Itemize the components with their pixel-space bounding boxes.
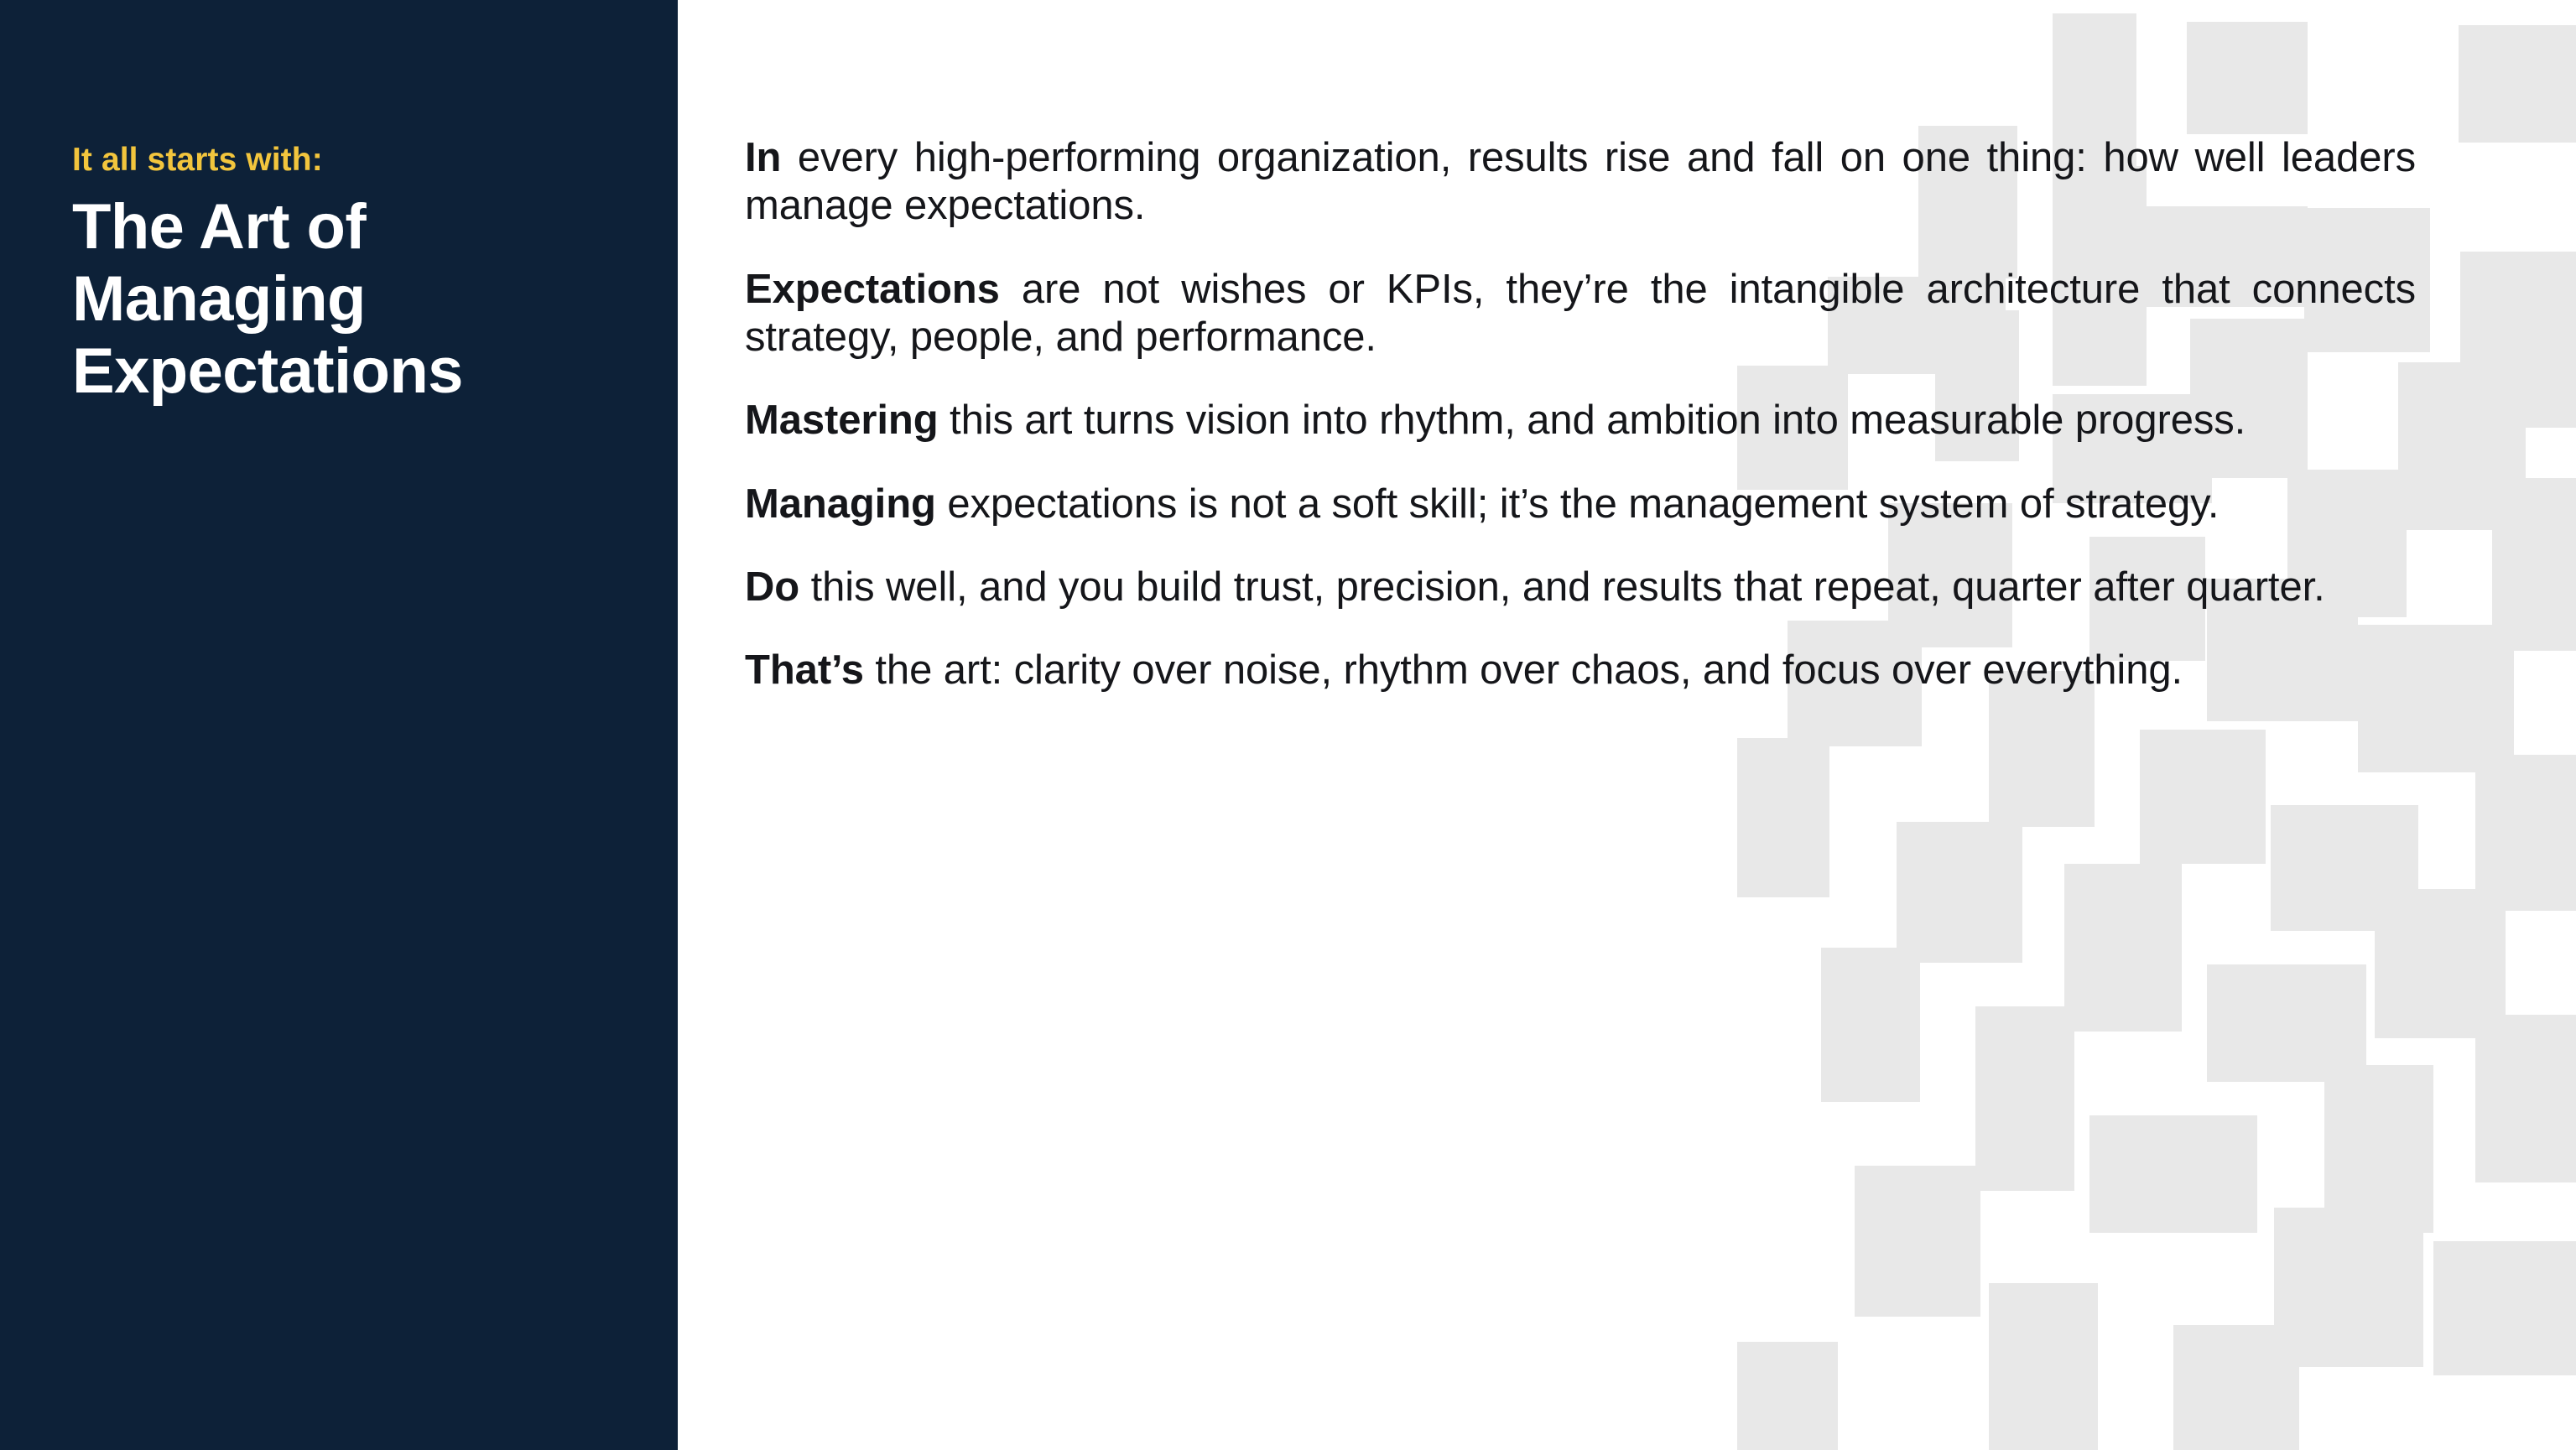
- page-title-line-2: Managing: [72, 263, 644, 335]
- pattern-block: [1737, 1342, 1838, 1450]
- paragraph: In every high-performing organization, r…: [745, 134, 2416, 231]
- pattern-block: [2207, 964, 2366, 1082]
- pattern-block: [2433, 1241, 2576, 1375]
- pattern-block: [1975, 1006, 2074, 1191]
- body-copy: In every high-performing organization, r…: [745, 134, 2416, 695]
- paragraph-lead: In: [745, 135, 781, 180]
- pattern-block: [1737, 738, 1829, 897]
- pattern-block: [2187, 22, 2308, 134]
- page-title: The Art of Managing Expectations: [72, 191, 644, 408]
- pattern-block: [1989, 1283, 2098, 1450]
- paragraph-lead: Expectations: [745, 267, 1000, 312]
- pattern-block: [2398, 362, 2526, 530]
- pattern-block: [2475, 1015, 2576, 1182]
- pattern-block: [2492, 478, 2576, 651]
- pattern-block: [2459, 25, 2576, 143]
- pattern-block: [2089, 1115, 2257, 1233]
- pattern-block: [2274, 1208, 2423, 1367]
- pattern-block: [1897, 822, 2022, 963]
- pattern-block: [2324, 1065, 2433, 1233]
- paragraph-lead: Managing: [745, 481, 936, 527]
- paragraph-text: this well, and you build trust, precisio…: [799, 564, 2325, 610]
- pattern-block: [2140, 730, 2266, 864]
- pattern-block: [2271, 805, 2418, 931]
- paragraph-lead: Mastering: [745, 398, 939, 443]
- pattern-block: [2375, 889, 2506, 1038]
- sidebar-content: It all starts with: The Art of Managing …: [72, 141, 644, 408]
- paragraph-text: expectations is not a soft skill; it’s t…: [936, 481, 2220, 527]
- paragraph-text: the art: clarity over noise, rhythm over…: [864, 647, 2183, 693]
- slide-canvas: It all starts with: The Art of Managing …: [0, 0, 2576, 1450]
- pattern-block: [2475, 755, 2576, 911]
- pattern-block: [1855, 1166, 1980, 1317]
- page-title-line-1: The Art of: [72, 191, 644, 263]
- paragraph: Expectations are not wishes or KPIs, the…: [745, 266, 2416, 362]
- paragraph-lead: Do: [745, 564, 799, 610]
- paragraph-text: this art turns vision into rhythm, and a…: [939, 398, 2246, 443]
- sidebar-panel: It all starts with: The Art of Managing …: [0, 0, 678, 1450]
- paragraph: Mastering this art turns vision into rhy…: [745, 397, 2416, 444]
- page-title-line-3: Expectations: [72, 335, 644, 408]
- paragraph-lead: That’s: [745, 647, 864, 693]
- paragraph-text: every high-performing organization, resu…: [745, 135, 2416, 228]
- pattern-block: [2460, 252, 2576, 428]
- paragraph: Do this well, and you build trust, preci…: [745, 564, 2416, 611]
- paragraph: That’s the art: clarity over noise, rhyt…: [745, 647, 2416, 694]
- pattern-block: [2064, 864, 2182, 1032]
- sidebar-kicker: It all starts with:: [72, 141, 644, 179]
- pattern-block: [1821, 948, 1920, 1102]
- paragraph: Managing expectations is not a soft skil…: [745, 481, 2416, 528]
- pattern-block: [2173, 1325, 2299, 1450]
